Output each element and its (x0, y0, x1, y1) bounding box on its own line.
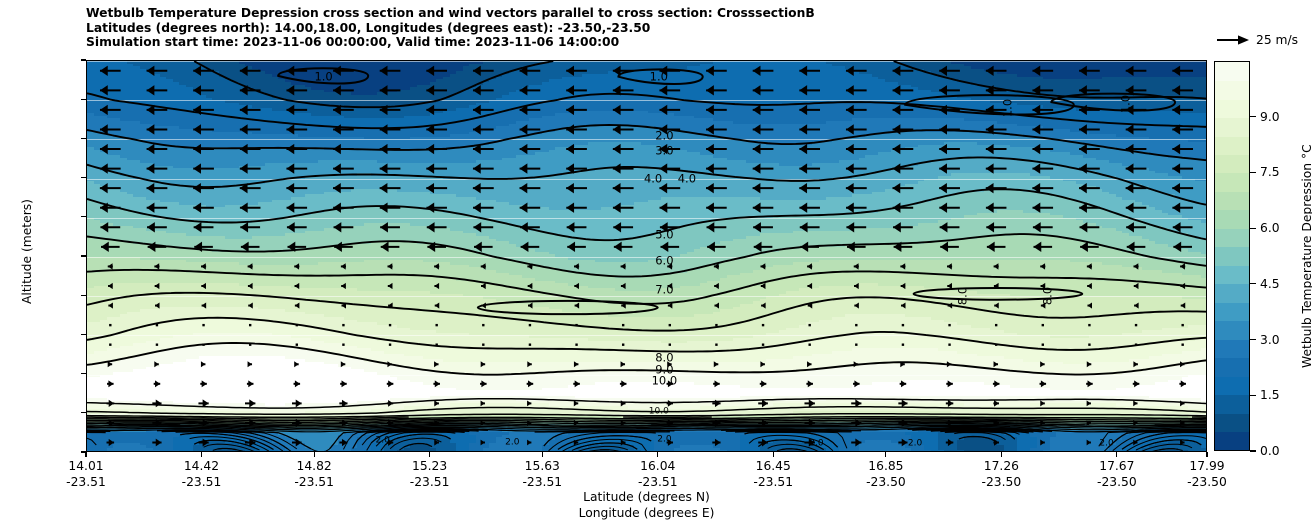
cross-section-plot: 1.01.01.01.02.03.04.04.05.06.07.08.09.01… (86, 60, 1207, 452)
contour-label: 2.0 (655, 130, 673, 142)
contour-label: 10.0 (649, 407, 669, 416)
colorbar-segment (1215, 228, 1249, 247)
contour-label: 1.0 (314, 71, 332, 83)
colorbar-segment (1215, 154, 1249, 173)
x-tick-label-lat: 16.45 (753, 458, 793, 474)
x-tick-mark (773, 452, 774, 457)
colorbar-tick-label: 0.0 (1260, 444, 1280, 458)
contour-label: 6.0 (655, 255, 673, 267)
y-tick-mark (81, 334, 86, 335)
x-tick-label-lat: 17.26 (982, 458, 1022, 474)
colorbar-segment (1215, 173, 1249, 192)
wind-key-label: 25 m/s (1256, 33, 1298, 47)
contour-labels-layer: 1.01.01.01.02.03.04.04.05.06.07.08.09.01… (87, 61, 1206, 451)
x-tick-mark (85, 452, 86, 457)
x-tick-label-lat: 16.04 (638, 458, 678, 474)
colorbar-tick-mark (1250, 339, 1256, 340)
contour-label: 8.0 (957, 287, 969, 305)
x-tick-mark (1001, 452, 1002, 457)
contour-label: 5.0 (655, 230, 673, 242)
contour-label: 2.0 (505, 439, 519, 448)
x-tick-group: 14.01-23.51 (66, 458, 106, 490)
colorbar-segment (1215, 265, 1249, 284)
colorbar-segment (1215, 191, 1249, 210)
x-tick-label-lat: 14.01 (66, 458, 106, 474)
contour-label: 4.0 (678, 173, 696, 185)
colorbar-tick-mark (1250, 116, 1256, 117)
colorbar-tick-label: 4.5 (1260, 277, 1280, 291)
colorbar-tick-mark (1250, 450, 1256, 451)
colorbar-tick-label: 6.0 (1260, 221, 1280, 235)
contour-label: 3.0 (655, 145, 673, 157)
contour-label: 1.0 (650, 71, 668, 83)
x-tick-label-lon: -23.50 (1187, 474, 1227, 490)
x-axis-label-latitude: Latitude (degrees N) (583, 490, 710, 504)
colorbar-segment (1215, 117, 1249, 136)
x-tick-label-lat: 17.99 (1187, 458, 1227, 474)
x-tick-mark (657, 452, 658, 457)
page-title: Wetbulb Temperature Depression cross sec… (86, 6, 1206, 21)
y-tick-mark (81, 99, 86, 100)
contour-label: 7.0 (655, 285, 673, 297)
colorbar-tick-mark (1250, 228, 1256, 229)
contour-label: 4.0 (644, 173, 662, 185)
contour-label: 2.0 (376, 437, 390, 446)
x-tick-label-lat: 15.63 (522, 458, 562, 474)
x-tick-label-lon: -23.51 (182, 474, 222, 490)
colorbar-segment (1215, 302, 1249, 321)
y-tick-mark (81, 255, 86, 256)
x-tick-group: 15.23-23.51 (410, 458, 450, 490)
y-tick-mark (81, 216, 86, 217)
x-tick-label-lon: -23.50 (1097, 474, 1137, 490)
x-tick-label-lat: 16.85 (866, 458, 906, 474)
x-tick-mark (542, 452, 543, 457)
colorbar-tick-mark (1250, 172, 1256, 173)
y-tick-mark (81, 412, 86, 413)
contour-label: 10.0 (652, 375, 678, 387)
colorbar-tick-label: 9.0 (1260, 110, 1280, 124)
colorbar-segment (1215, 321, 1249, 340)
x-tick-label-lat: 14.82 (294, 458, 334, 474)
title-coordinates: Latitudes (degrees north): 14.00,18.00, … (86, 21, 1206, 36)
x-tick-label-lat: 15.23 (410, 458, 450, 474)
colorbar-segment (1215, 247, 1249, 266)
x-tick-label-lon: -23.51 (522, 474, 562, 490)
colorbar-label: Wetbulb Temperature Depression °C (1300, 144, 1312, 368)
x-tick-group: 16.85-23.50 (866, 458, 906, 490)
colorbar-segment (1215, 376, 1249, 395)
x-tick-group: 17.26-23.50 (982, 458, 1022, 490)
x-tick-label-lon: -23.51 (294, 474, 334, 490)
colorbar-segment (1215, 358, 1249, 377)
x-tick-group: 14.42-23.51 (182, 458, 222, 490)
x-tick-group: 17.99-23.50 (1187, 458, 1227, 490)
x-tick-mark (1206, 452, 1207, 457)
colorbar-segment (1215, 136, 1249, 155)
x-tick-group: 16.45-23.51 (753, 458, 793, 490)
colorbar-tick-label: 1.5 (1260, 388, 1280, 402)
contour-label: 2.0 (809, 440, 823, 449)
y-tick-mark (81, 59, 86, 60)
x-tick-label-lon: -23.51 (410, 474, 450, 490)
colorbar-segment (1215, 432, 1249, 451)
contour-label: 2.0 (657, 436, 671, 445)
x-tick-label-lon: -23.51 (753, 474, 793, 490)
colorbar-tick-mark (1250, 283, 1256, 284)
colorbar-tick-label: 3.0 (1260, 333, 1280, 347)
x-tick-mark (885, 452, 886, 457)
right-arrow-icon (1216, 34, 1250, 46)
x-tick-group: 14.82-23.51 (294, 458, 334, 490)
contour-label: 1.0 (1002, 99, 1014, 117)
colorbar-segment (1215, 210, 1249, 229)
y-tick-mark (81, 373, 86, 374)
y-axis-label: Altitude (meters) (20, 199, 34, 304)
contour-label: 1.0 (1121, 95, 1133, 113)
colorbar-segment (1215, 413, 1249, 432)
x-axis-label-longitude: Longitude (degrees E) (579, 506, 715, 520)
title-times: Simulation start time: 2023-11-06 00:00:… (86, 35, 1206, 50)
contour-label: 8.0 (1042, 287, 1054, 305)
colorbar-segment (1215, 80, 1249, 99)
x-tick-label-lon: -23.51 (638, 474, 678, 490)
colorbar-segment (1215, 62, 1249, 81)
x-tick-group: 16.04-23.51 (638, 458, 678, 490)
colorbar-segment (1215, 284, 1249, 303)
x-tick-mark (201, 452, 202, 457)
x-tick-label-lon: -23.50 (982, 474, 1022, 490)
colorbar-tick-mark (1250, 395, 1256, 396)
x-tick-mark (1116, 452, 1117, 457)
x-tick-mark (314, 452, 315, 457)
colorbar-tick-label: 7.5 (1260, 165, 1280, 179)
colorbar-segment (1215, 395, 1249, 414)
x-tick-mark (429, 452, 430, 457)
chart-figure: Wetbulb Temperature Depression cross sec… (0, 0, 1312, 526)
x-tick-label-lat: 17.67 (1097, 458, 1137, 474)
contour-label: 2.0 (908, 440, 922, 449)
x-tick-label-lon: -23.50 (866, 474, 906, 490)
y-tick-mark (81, 138, 86, 139)
colorbar-segment (1215, 339, 1249, 358)
wind-vector-key: 25 m/s (1216, 33, 1298, 47)
colorbar-segment (1215, 99, 1249, 118)
x-tick-label-lon: -23.51 (66, 474, 106, 490)
y-tick-mark (81, 177, 86, 178)
chart-title-block: Wetbulb Temperature Depression cross sec… (86, 6, 1206, 50)
contour-label: 2.0 (1099, 440, 1113, 449)
y-tick-mark (81, 295, 86, 296)
x-tick-group: 17.67-23.50 (1097, 458, 1137, 490)
x-tick-label-lat: 14.42 (182, 458, 222, 474)
x-tick-group: 15.63-23.51 (522, 458, 562, 490)
colorbar (1214, 61, 1250, 451)
